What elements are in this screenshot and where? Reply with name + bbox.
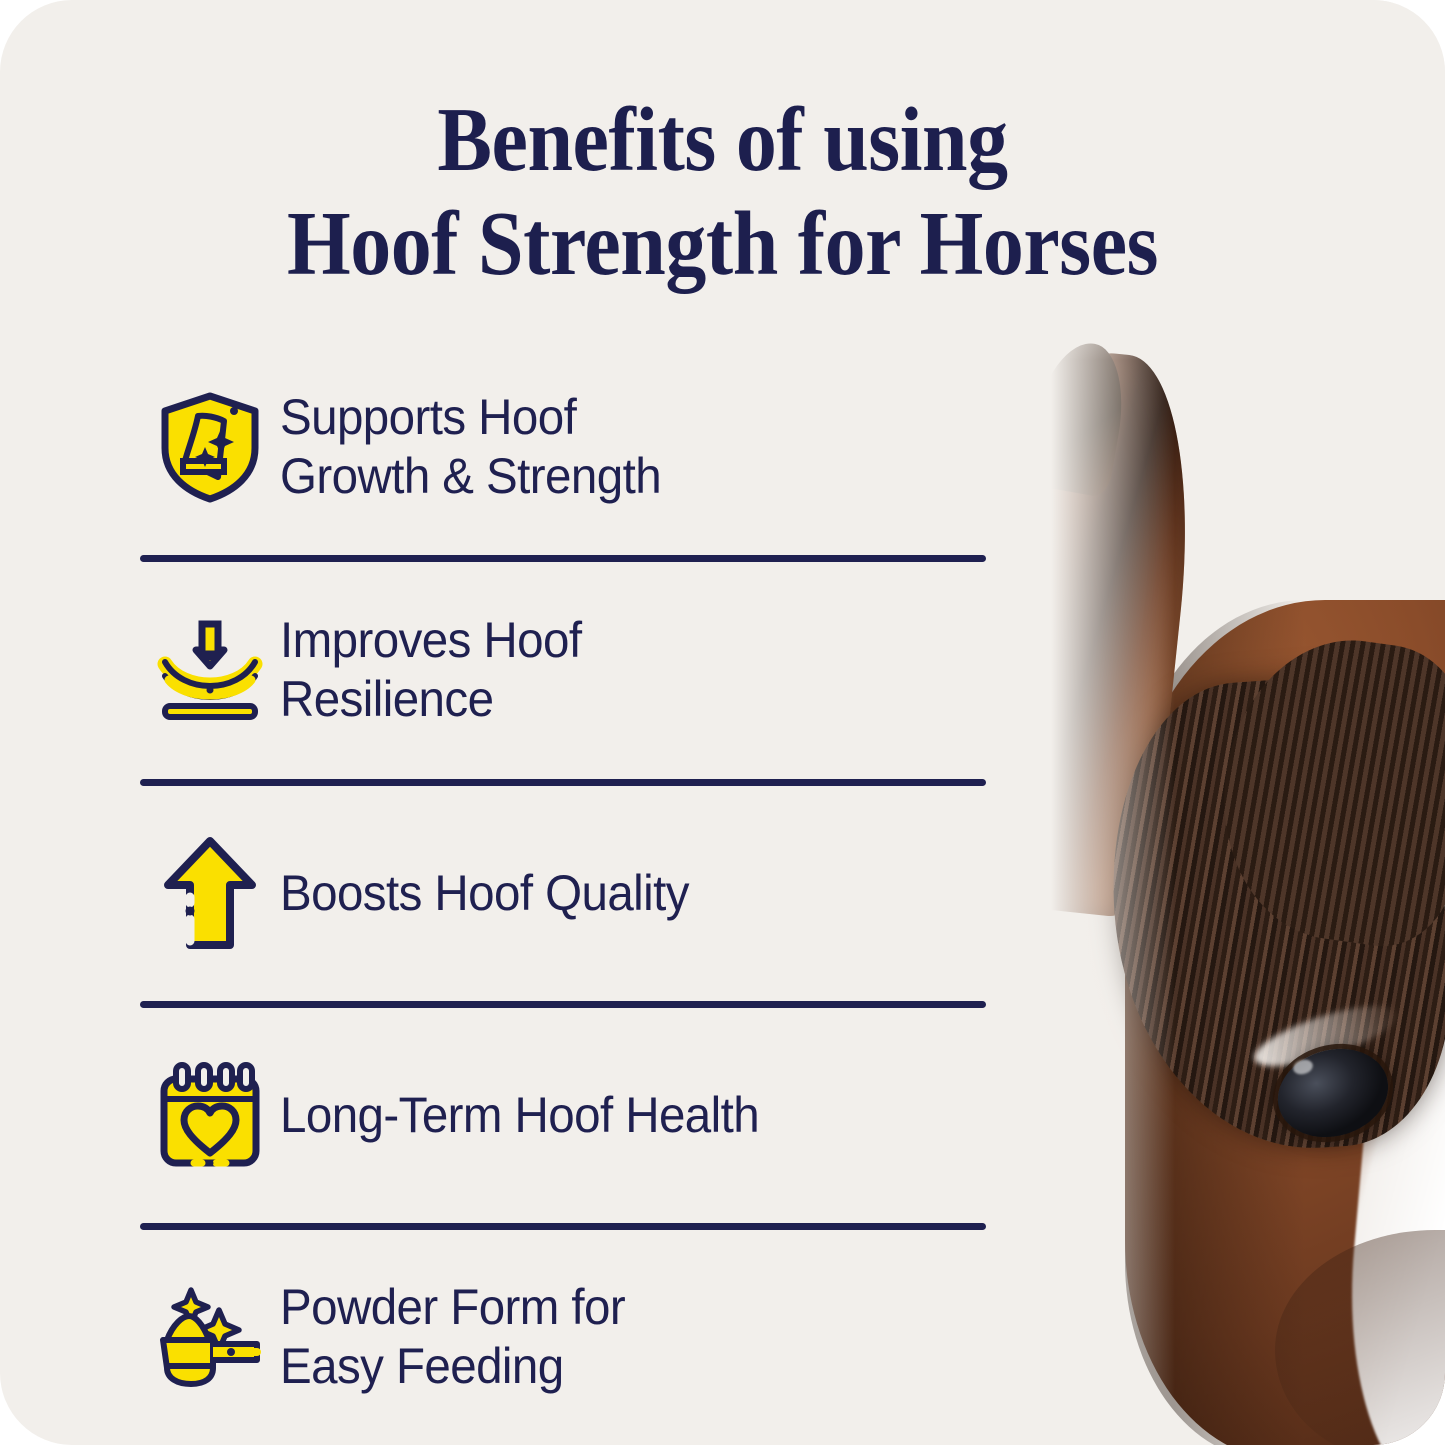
title-line-1: Benefits of using [437,89,1007,190]
cushion-arrow-icon [140,611,280,729]
benefit-label: Boosts Hoof Quality [280,864,689,923]
benefit-label: Long-Term Hoof Health [280,1086,759,1145]
benefit-row-boosts-quality: Boosts Hoof Quality [140,818,986,968]
benefit-row-improves-resilience: Improves Hoof Resilience [140,594,986,746]
benefit-label: Improves Hoof Resilience [280,611,581,729]
benefit-row-powder-form: Powder Form for Easy Feeding [140,1262,986,1412]
shield-hoof-icon [140,388,280,506]
page-title: Benefits of using Hoof Strength for Hors… [72,88,1373,296]
scoop-sparkle-icon [140,1278,280,1396]
infographic-card: Benefits of using Hoof Strength for Hors… [0,0,1445,1445]
up-arrow-icon [140,834,280,952]
benefits-list: Supports Hoof Growth & Strength [140,372,986,1412]
calendar-heart-icon [140,1056,280,1174]
divider [140,1001,986,1008]
benefit-label: Powder Form for Easy Feeding [280,1278,625,1396]
title-line-2: Hoof Strength for Horses [72,192,1373,296]
divider [140,555,986,562]
divider [140,779,986,786]
benefit-row-supports-hoof-growth: Supports Hoof Growth & Strength [140,372,986,522]
divider [140,1223,986,1230]
benefit-label: Supports Hoof Growth & Strength [280,388,661,506]
benefit-row-long-term-health: Long-Term Hoof Health [140,1040,986,1190]
